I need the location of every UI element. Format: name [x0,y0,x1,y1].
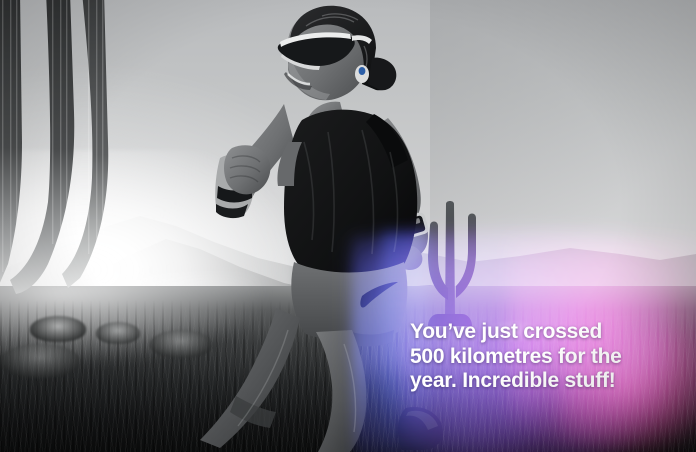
gripping-hand [224,145,270,194]
congratulations-message: You’ve just crossed 500 kilometres for t… [410,320,672,394]
desert-bush [96,322,140,344]
torso-tshirt [277,110,417,283]
saguaro-cactus-silhouette-left [0,0,144,322]
promo-banner: You’ve just crossed 500 kilometres for t… [0,0,696,452]
message-line-1: You’ve just crossed [410,320,672,345]
wireless-earbud [355,65,369,83]
message-line-3: year. Incredible stuff! [410,369,672,394]
running-shoe [398,407,443,450]
desert-bush [0,344,80,378]
message-line-2: 500 kilometres for the [410,345,672,370]
